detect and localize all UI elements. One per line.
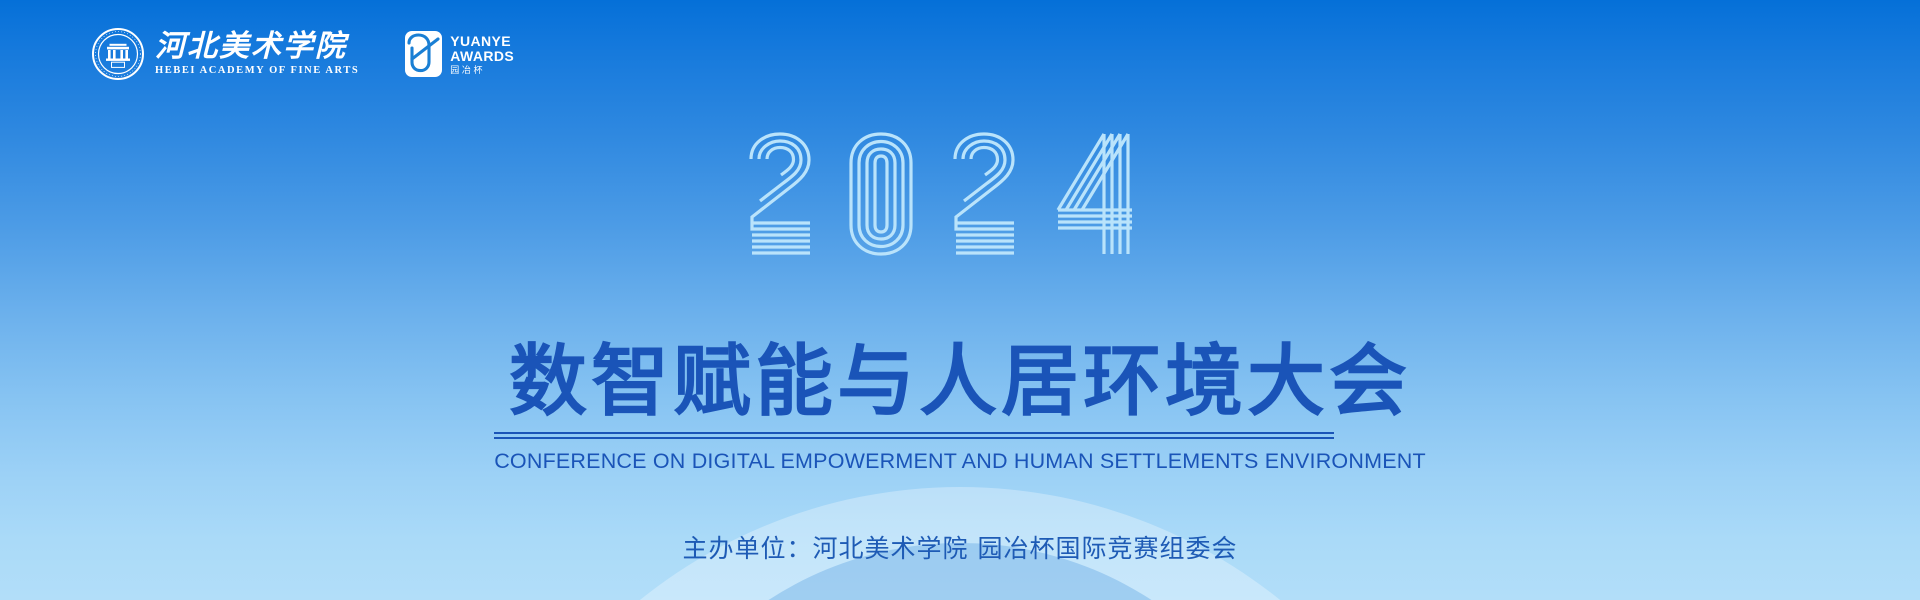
yuanye-line1: YUANYE — [450, 34, 511, 48]
logo-row: 河北美术学院 HEBEI ACADEMY OF FINE ARTS YUANYE… — [92, 28, 514, 80]
year-2024-graphic — [744, 126, 1176, 256]
conference-title-en: CONFERENCE ON DIGITAL EMPOWERMENT AND HU… — [494, 448, 1426, 474]
hebei-academy-logo: 河北美术学院 HEBEI ACADEMY OF FINE ARTS — [92, 28, 359, 80]
hebei-academy-name-en: HEBEI ACADEMY OF FINE ARTS — [155, 65, 359, 77]
conference-title-cn: 数智赋能与人居环境大会 — [494, 338, 1426, 426]
conference-banner: 河北美术学院 HEBEI ACADEMY OF FINE ARTS YUANYE… — [0, 0, 1920, 600]
yuanye-line2: AWARDS — [450, 49, 514, 63]
hebei-academy-name-cn: 河北美术学院 — [155, 31, 347, 63]
title-divider-line-bottom — [494, 437, 1334, 439]
yuanye-swoosh-icon — [405, 31, 442, 77]
hebei-academy-seal-icon — [92, 28, 144, 80]
title-divider-line-top — [494, 432, 1334, 434]
hebei-academy-wordmark: 河北美术学院 HEBEI ACADEMY OF FINE ARTS — [155, 31, 359, 77]
yuanye-name-cn: 园冶杯 — [450, 66, 485, 75]
yuanye-awards-logo: YUANYE AWARDS 园冶杯 — [405, 31, 514, 77]
title-divider — [494, 432, 1334, 439]
organizer-line: 主办单位：河北美术学院 园冶杯国际竞赛组委会 — [0, 533, 1920, 565]
yuanye-wordmark: YUANYE AWARDS 园冶杯 — [450, 34, 514, 75]
title-block: 数智赋能与人居环境大会 CONFERENCE ON DIGITAL EMPOWE… — [0, 338, 1920, 474]
